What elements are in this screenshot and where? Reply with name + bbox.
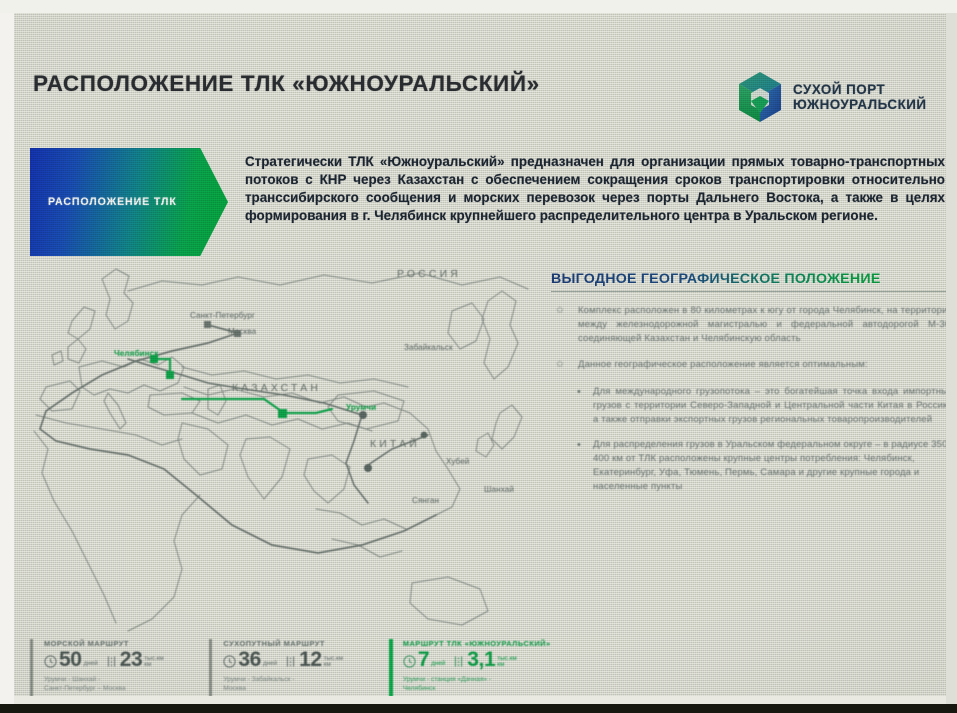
geography-section: ВЫГОДНОЕ ГЕОГРАФИЧЕСКОЕ ПОЛОЖЕНИЕ ✩ Комп…: [551, 271, 946, 505]
clock-icon: [223, 655, 236, 668]
route-distance-unit: тыс.км км: [497, 656, 516, 669]
page-title: РАСПОЛОЖЕНИЕ ТЛК «ЮЖНОУРАЛЬСКИЙ»: [33, 71, 540, 97]
logo-text: СУХОЙ ПОРТ ЮЖНОУРАЛЬСКИЙ: [793, 82, 927, 112]
route-card-land: СУХОПУТНЫЙ МАРШРУТ 36 дней 12: [209, 639, 371, 696]
map-label: КИТАЙ: [370, 439, 420, 450]
map-label: Санкт-Петербург: [190, 311, 255, 320]
star-bullet-icon: ✩: [551, 304, 578, 345]
world-map: РОССИЯ Санкт-Петербург Москва Челябинск …: [32, 263, 532, 633]
route-endpoints-line2: Санкт-Петербург – Москва: [44, 684, 192, 694]
route-duration: 7 дней: [403, 650, 445, 670]
intro-paragraph: Стратегически ТЛК «Южноуральский» предна…: [245, 153, 945, 226]
hexagon-cube-logo-icon: [736, 71, 784, 123]
route-title: СУХОПУТНЫЙ МАРШРУТ: [223, 639, 371, 648]
map-label: Забайкальск: [404, 343, 453, 352]
road-icon: [284, 655, 297, 668]
clock-icon: [44, 655, 57, 668]
route-duration-value: 36: [238, 650, 261, 670]
presentation-slide: РАСПОЛОЖЕНИЕ ТЛК «ЮЖНОУРАЛЬСКИЙ»: [14, 13, 946, 696]
route-duration: 36 дней: [223, 650, 277, 670]
map-label: РОССИЯ: [397, 269, 461, 280]
route-endpoints: Урумчи - Шанхай - Санкт-Петербург – Моск…: [44, 675, 192, 694]
map-label-chelyabinsk: Челябинск: [114, 349, 158, 358]
clock-icon: [403, 655, 416, 668]
card-separator: [371, 639, 389, 696]
route-endpoints-line1: Урумчи - станция «Дачная» -: [403, 675, 570, 685]
projected-slide-photo: РАСПОЛОЖЕНИЕ ТЛК «ЮЖНОУРАЛЬСКИЙ»: [0, 0, 957, 713]
route-endpoints-line1: Урумчи - Шанхай -: [44, 675, 192, 685]
route-duration: 50 дней: [44, 650, 98, 670]
logo-block: СУХОЙ ПОРТ ЮЖНОУРАЛЬСКИЙ: [736, 71, 927, 123]
route-endpoints: Урумчи - станция «Дачная» - Челябинск: [403, 675, 570, 694]
screen-right-margin: [946, 0, 957, 713]
road-icon: [452, 655, 465, 668]
section-banner: РАСПОЛОЖЕНИЕ ТЛК: [30, 148, 228, 256]
map-label: Сянган: [412, 496, 439, 505]
map-coastlines-svg: [32, 263, 532, 633]
list-item: ✩ Данное географическое расположение явл…: [551, 358, 946, 372]
route-title: МАРШРУТ ТЛК «ЮЖНОУРАЛЬСКИЙ»: [403, 639, 570, 648]
route-accent-bar: [30, 639, 33, 696]
map-label-urumchi: Урумчи: [346, 403, 376, 412]
route-distance-value: 12: [299, 650, 322, 670]
route-duration-value: 50: [59, 650, 82, 670]
route-duration-unit: дней: [84, 661, 98, 668]
geography-title-rule: [551, 291, 946, 292]
dot-bullet-icon: •: [577, 438, 593, 493]
list-item-text: Комплекс расположен в 80 километрах к юг…: [578, 304, 946, 345]
sub-list-item: • Для международного грузопотока – это б…: [577, 385, 946, 426]
route-distance-value: 3,1: [467, 650, 495, 670]
star-bullet-icon: ✩: [551, 358, 578, 372]
section-banner-label: РАСПОЛОЖЕНИЕ ТЛК: [48, 196, 177, 208]
sub-list-item-text: Для распределения грузов в Уральском фед…: [593, 438, 946, 493]
route-distance-unit-line2: км: [497, 662, 516, 669]
route-duration-unit: дней: [263, 661, 277, 668]
sub-list-item-text: Для международного грузопотока – это бог…: [593, 385, 946, 426]
screen-top-margin: [0, 0, 957, 13]
geography-title: ВЫГОДНОЕ ГЕОГРАФИЧЕСКОЕ ПОЛОЖЕНИЕ: [551, 271, 946, 287]
road-icon: [105, 655, 118, 668]
route-card-yuzhnouralsky: МАРШРУТ ТЛК «ЮЖНОУРАЛЬСКИЙ» 7 дней 3,1: [389, 639, 570, 696]
list-item-text: Данное географическое расположение являе…: [578, 358, 946, 372]
route-endpoints-line2: Москва: [223, 684, 371, 694]
map-label: Москва: [228, 327, 256, 336]
route-endpoints-line1: Урумчи - Забайкальск -: [223, 675, 371, 685]
route-figures: 36 дней 12 тыс.км км: [223, 650, 371, 670]
route-duration-value: 7: [418, 650, 429, 670]
route-distance-value: 23: [120, 650, 143, 670]
route-accent-bar: [389, 639, 393, 696]
sub-list-item: • Для распределения грузов в Уральском ф…: [577, 438, 946, 493]
route-duration-unit: дней: [431, 661, 445, 668]
route-distance-unit: тыс.км км: [324, 656, 343, 669]
route-distance-unit-line2: км: [324, 662, 343, 669]
route-distance: 12 тыс.км км: [284, 650, 343, 670]
route-endpoints-line2: Челябинск: [403, 684, 570, 694]
card-separator: [192, 639, 210, 696]
sub-list: • Для международного грузопотока – это б…: [551, 385, 946, 493]
route-endpoints: Урумчи - Забайкальск - Москва: [223, 675, 371, 694]
route-accent-bar: [209, 639, 212, 696]
list-item: ✩ Комплекс расположен в 80 километрах к …: [551, 304, 946, 345]
route-figures: 7 дней 3,1 тыс.км км: [403, 650, 570, 670]
screen-left-margin: [0, 0, 14, 713]
route-card-sea: МОРСКОЙ МАРШРУТ 50 дней 23: [30, 639, 192, 696]
route-distance-unit-line2: км: [144, 662, 163, 669]
photo-bottom-edge: [0, 704, 957, 713]
map-label: КАЗАХСТАН: [232, 383, 321, 394]
map-label: Хубей: [446, 457, 469, 466]
logo-line-2: ЮЖНОУРАЛЬСКИЙ: [793, 97, 927, 112]
route-distance-unit: тыс.км км: [144, 656, 163, 669]
route-figures: 50 дней 23 тыс.км км: [44, 650, 192, 670]
route-title: МОРСКОЙ МАРШРУТ: [44, 639, 192, 648]
dot-bullet-icon: •: [577, 385, 593, 426]
map-label: Шанхай: [484, 485, 514, 494]
route-distance: 3,1 тыс.км км: [452, 650, 516, 670]
route-distance: 23 тыс.км км: [105, 650, 164, 670]
logo-line-1: СУХОЙ ПОРТ: [793, 82, 927, 97]
route-summary-cards: МОРСКОЙ МАРШРУТ 50 дней 23: [30, 639, 570, 696]
